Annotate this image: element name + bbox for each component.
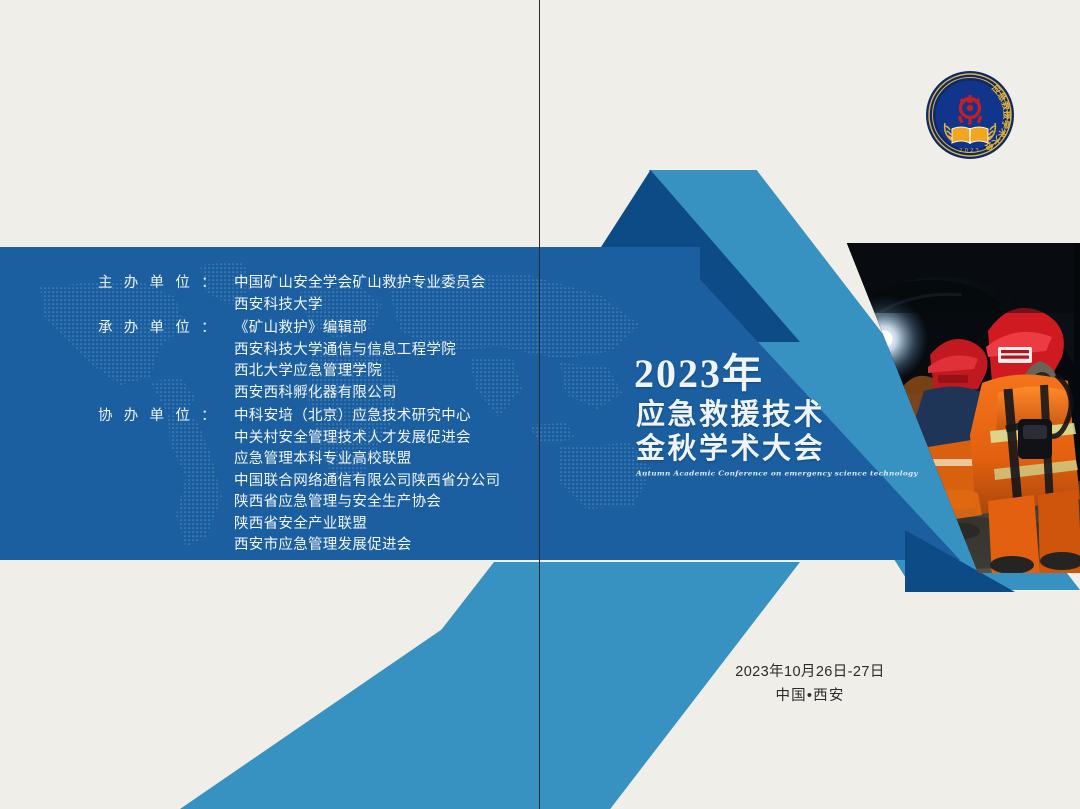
title-english-subtitle: Autumn Academic Conference on emergency …: [636, 469, 892, 477]
conference-poster: 2023年 应急救援技术 金秋学术大会 Autumn Academic Conf…: [0, 0, 1080, 809]
organizer-item: 陕西省安全产业联盟: [234, 514, 500, 536]
fold-divider-line: [539, 0, 540, 809]
organizer-group-coorganizer: 协办单位： 中科安培（北京）应急技术研究中心 中关村安全管理技术人才发展促进会 …: [0, 406, 700, 557]
organizer-item: 西安科技大学通信与信息工程学院: [234, 340, 456, 362]
event-date: 2023年10月26日-27日: [640, 660, 980, 684]
organizer-item: 陕西省应急管理与安全生产协会: [234, 492, 500, 514]
organizer-item: 中国矿山安全学会矿山救护专业委员会: [234, 273, 486, 295]
organizer-item: 西北大学应急管理学院: [234, 361, 456, 383]
organizer-group-undertaker: 承办单位： 《矿山救护》编辑部 西安科技大学通信与信息工程学院 西北大学应急管理…: [0, 318, 700, 404]
organizer-label-undertaker: 承办单位：: [98, 318, 216, 340]
conference-title: 2023年 应急救援技术 金秋学术大会 Autumn Academic Conf…: [632, 352, 892, 478]
organizer-item: 西安西科孵化器有限公司: [234, 383, 456, 405]
organizer-label-host: 主办单位：: [98, 273, 216, 295]
conference-logo-icon: 应急救援学术大会: [921, 66, 1019, 164]
organizers-list: 主办单位： 中国矿山安全学会矿山救护专业委员会 西安科技大学 承办单位： 《矿山…: [0, 247, 700, 560]
organizer-item: 中国联合网络通信有限公司陕西省分公司: [234, 471, 500, 493]
title-year: 2023年: [634, 352, 892, 396]
organizer-item: 西安市应急管理发展促进会: [234, 535, 500, 557]
organizer-values-coorganizer: 中科安培（北京）应急技术研究中心 中关村安全管理技术人才发展促进会 应急管理本科…: [234, 406, 500, 557]
organizer-item: 中关村安全管理技术人才发展促进会: [234, 428, 500, 450]
organizer-label-coorganizer: 协办单位：: [98, 406, 216, 428]
event-location: 中国•西安: [640, 684, 980, 708]
organizer-values-host: 中国矿山安全学会矿山救护专业委员会 西安科技大学: [234, 273, 486, 316]
organizer-item: 《矿山救护》编辑部: [234, 318, 456, 340]
organizer-item: 应急管理本科专业高校联盟: [234, 449, 500, 471]
title-line-2: 金秋学术大会: [636, 432, 892, 466]
organizer-values-undertaker: 《矿山救护》编辑部 西安科技大学通信与信息工程学院 西北大学应急管理学院 西安西…: [234, 318, 456, 404]
organizer-group-host: 主办单位： 中国矿山安全学会矿山救护专业委员会 西安科技大学: [0, 273, 700, 316]
organizer-item: 西安科技大学: [234, 295, 486, 317]
svg-text:2023: 2023: [959, 148, 981, 154]
organizer-item: 中科安培（北京）应急技术研究中心: [234, 406, 500, 428]
title-line-1: 应急救援技术: [636, 398, 892, 432]
event-footer: 2023年10月26日-27日 中国•西安: [640, 660, 980, 708]
